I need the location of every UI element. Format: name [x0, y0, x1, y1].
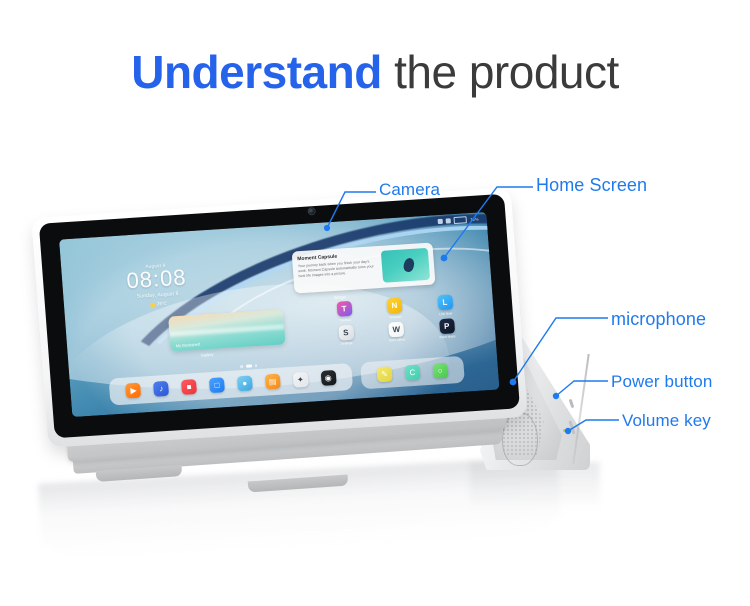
- page-dot[interactable]: [240, 365, 243, 368]
- docs-icon[interactable]: ▤: [265, 374, 281, 390]
- product-illustration: 75% August 8 08:08 Sunday, August 8 26°C…: [0, 0, 750, 606]
- app-label: Themes: [339, 318, 351, 323]
- app-label: Settings: [341, 341, 353, 346]
- power-button[interactable]: [569, 399, 575, 408]
- app-grid: TThemesNNotepadLLink NowSSettingsWWPS Of…: [321, 293, 470, 346]
- weather-temp: 26°C: [157, 301, 167, 307]
- page-dot-active[interactable]: [246, 364, 252, 367]
- tablet-bezel: 75% August 8 08:08 Sunday, August 8 26°C…: [39, 194, 520, 438]
- page-root: Understand the product: [0, 0, 750, 606]
- signal-icon: [438, 219, 443, 224]
- status-led: [563, 429, 566, 432]
- front-camera-icon: [309, 208, 315, 214]
- speaker-outline: [502, 412, 538, 466]
- photos-icon[interactable]: ✦: [292, 372, 308, 388]
- callout-label-volume-key: Volume key: [622, 411, 711, 431]
- app-link-now[interactable]: LLink Now: [422, 293, 468, 316]
- callout-label-microphone: microphone: [611, 309, 706, 330]
- wifi-icon: [446, 218, 451, 223]
- page-dot[interactable]: [255, 364, 258, 367]
- callout-label-power-button: Power button: [611, 372, 712, 392]
- notes-icon[interactable]: ✎: [376, 367, 392, 383]
- wps-office-icon[interactable]: W: [388, 321, 404, 337]
- battery-percent: 75%: [470, 216, 479, 222]
- app-settings[interactable]: SSettings: [323, 323, 369, 346]
- capsule-text: Moment Capsule Your journey back when yo…: [297, 251, 379, 289]
- notepad-icon[interactable]: N: [386, 298, 402, 314]
- callout-label-home-screen: Home Screen: [536, 175, 647, 196]
- gallery-widget-caption: Gallery: [201, 352, 214, 358]
- app-notepad[interactable]: NNotepad: [372, 297, 418, 320]
- app-label: Notepad: [389, 314, 401, 319]
- app-wps-office[interactable]: WWPS Office: [373, 320, 419, 343]
- petal-maps-icon[interactable]: P: [439, 318, 455, 334]
- gallery-widget-title: My Bookshelf: [176, 342, 200, 349]
- callout-label-camera: Camera: [379, 180, 440, 200]
- camera-icon[interactable]: ◉: [320, 370, 336, 386]
- settings-icon[interactable]: S: [338, 324, 354, 340]
- celia-icon[interactable]: C: [404, 365, 420, 381]
- messages-icon[interactable]: ○: [432, 363, 448, 379]
- app-petal-maps[interactable]: PPetal Maps: [424, 317, 470, 340]
- capsule-body: Your journey back when you finish your d…: [298, 259, 379, 280]
- link-now-icon[interactable]: L: [437, 294, 453, 310]
- weather-sun-icon: [150, 302, 155, 307]
- tablet: 75% August 8 08:08 Sunday, August 8 26°C…: [31, 187, 527, 447]
- capsule-thumbnail: [381, 247, 431, 283]
- app-themes[interactable]: TThemes: [321, 300, 367, 323]
- video-player-icon[interactable]: ▶: [125, 383, 141, 399]
- music-icon[interactable]: ♪: [153, 381, 169, 397]
- battery-icon: [454, 216, 467, 224]
- stand-reflection: [470, 462, 600, 522]
- gallery-icon[interactable]: □: [209, 377, 225, 393]
- browser-icon[interactable]: ●: [237, 376, 253, 392]
- capsule-caption: Widget: [334, 294, 347, 300]
- themes-icon[interactable]: T: [336, 301, 352, 317]
- files-icon[interactable]: ■: [181, 379, 197, 395]
- clock-time: 08:08: [126, 267, 188, 293]
- clock-widget[interactable]: August 8 08:08 Sunday, August 8 26°C: [125, 262, 188, 309]
- tablet-screen[interactable]: 75% August 8 08:08 Sunday, August 8 26°C…: [59, 212, 499, 417]
- app-label: Link Now: [439, 311, 452, 316]
